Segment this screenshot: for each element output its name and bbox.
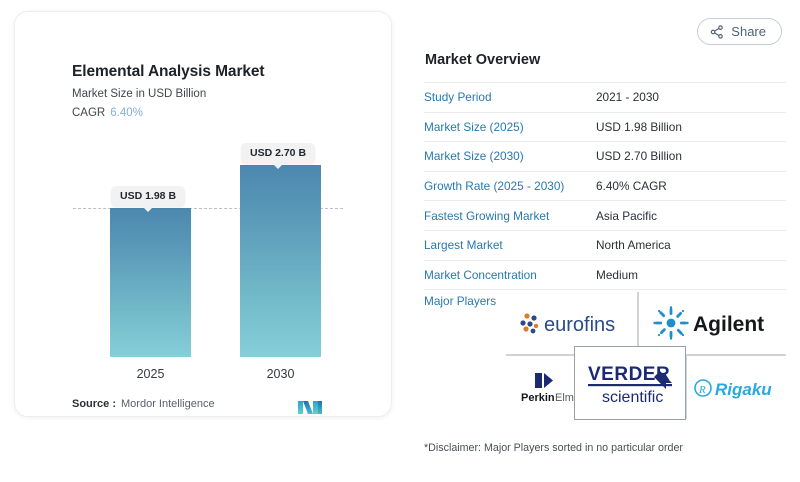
player-cell-verder-scientific[interactable]: VERDER scientific xyxy=(574,346,686,420)
row-value: North America xyxy=(596,238,671,252)
row-key: Market Concentration xyxy=(424,268,596,282)
verder-scientific-logo: VERDER scientific xyxy=(584,359,676,407)
row-key: Fastest Growing Market xyxy=(424,209,596,223)
svg-text:eurofins: eurofins xyxy=(544,314,615,336)
row-key: Study Period xyxy=(424,90,596,104)
row-value: 6.40% CAGR xyxy=(596,179,667,193)
chart-card: Elemental Analysis Market Market Size in… xyxy=(14,11,392,417)
market-overview-table: Study Period 2021 - 2030 Market Size (20… xyxy=(424,82,786,290)
table-row: Market Size (2030) USD 2.70 Billion xyxy=(424,142,786,172)
bar-2025[interactable] xyxy=(110,208,191,357)
eurofins-logo: eurofins xyxy=(516,308,628,338)
bar-2030[interactable] xyxy=(240,165,321,357)
agilent-logo: Agilent xyxy=(653,306,773,340)
x-tick-2030: 2030 xyxy=(240,367,321,381)
x-tick-2025: 2025 xyxy=(110,367,191,381)
player-cell-rigaku[interactable]: R Rigaku xyxy=(686,355,786,419)
svg-text:Agilent: Agilent xyxy=(693,313,764,336)
table-row: Market Concentration Medium xyxy=(424,261,786,291)
rigaku-logo: R Rigaku xyxy=(694,375,780,401)
svg-text:scientific: scientific xyxy=(602,389,663,406)
source-row: Source :Mordor Intelligence xyxy=(72,398,215,410)
svg-text:Rigaku: Rigaku xyxy=(715,380,772,399)
source-label: Source : xyxy=(72,398,116,410)
row-key: Growth Rate (2025 - 2030) xyxy=(424,179,596,193)
market-overview-title: Market Overview xyxy=(425,52,540,68)
row-key: Market Size (2030) xyxy=(424,149,596,163)
mordor-intelligence-logo xyxy=(298,400,322,415)
disclaimer-text: *Disclaimer: Major Players sorted in no … xyxy=(424,442,683,454)
svg-text:Perkin: Perkin xyxy=(521,392,555,404)
share-button[interactable]: Share xyxy=(697,18,782,45)
row-value: 2021 - 2030 xyxy=(596,90,659,104)
market-snapshot-page: Elemental Analysis Market Market Size in… xyxy=(0,0,800,482)
table-row: Largest Market North America xyxy=(424,231,786,261)
bar-chart-plot: USD 1.98 B USD 2.70 B 2025 2030 xyxy=(15,12,392,417)
major-players-label: Major Players xyxy=(424,294,496,308)
bar-label-2030: USD 2.70 B xyxy=(241,143,315,164)
table-row: Fastest Growing Market Asia Pacific xyxy=(424,201,786,231)
row-key: Market Size (2025) xyxy=(424,120,596,134)
share-label: Share xyxy=(731,25,766,39)
row-value: USD 2.70 Billion xyxy=(596,149,682,163)
row-value: Medium xyxy=(596,268,638,282)
table-row: Study Period 2021 - 2030 xyxy=(424,82,786,113)
table-row: Market Size (2025) USD 1.98 Billion xyxy=(424,113,786,143)
major-players-logo-grid: eurofins xyxy=(506,292,786,420)
source-name: Mordor Intelligence xyxy=(121,398,215,410)
row-key: Largest Market xyxy=(424,238,596,252)
bar-label-2025: USD 1.98 B xyxy=(111,186,185,207)
share-icon xyxy=(710,25,724,39)
svg-text:R: R xyxy=(698,384,706,396)
row-value: USD 1.98 Billion xyxy=(596,120,682,134)
row-value: Asia Pacific xyxy=(596,209,657,223)
table-row: Growth Rate (2025 - 2030) 6.40% CAGR xyxy=(424,172,786,202)
